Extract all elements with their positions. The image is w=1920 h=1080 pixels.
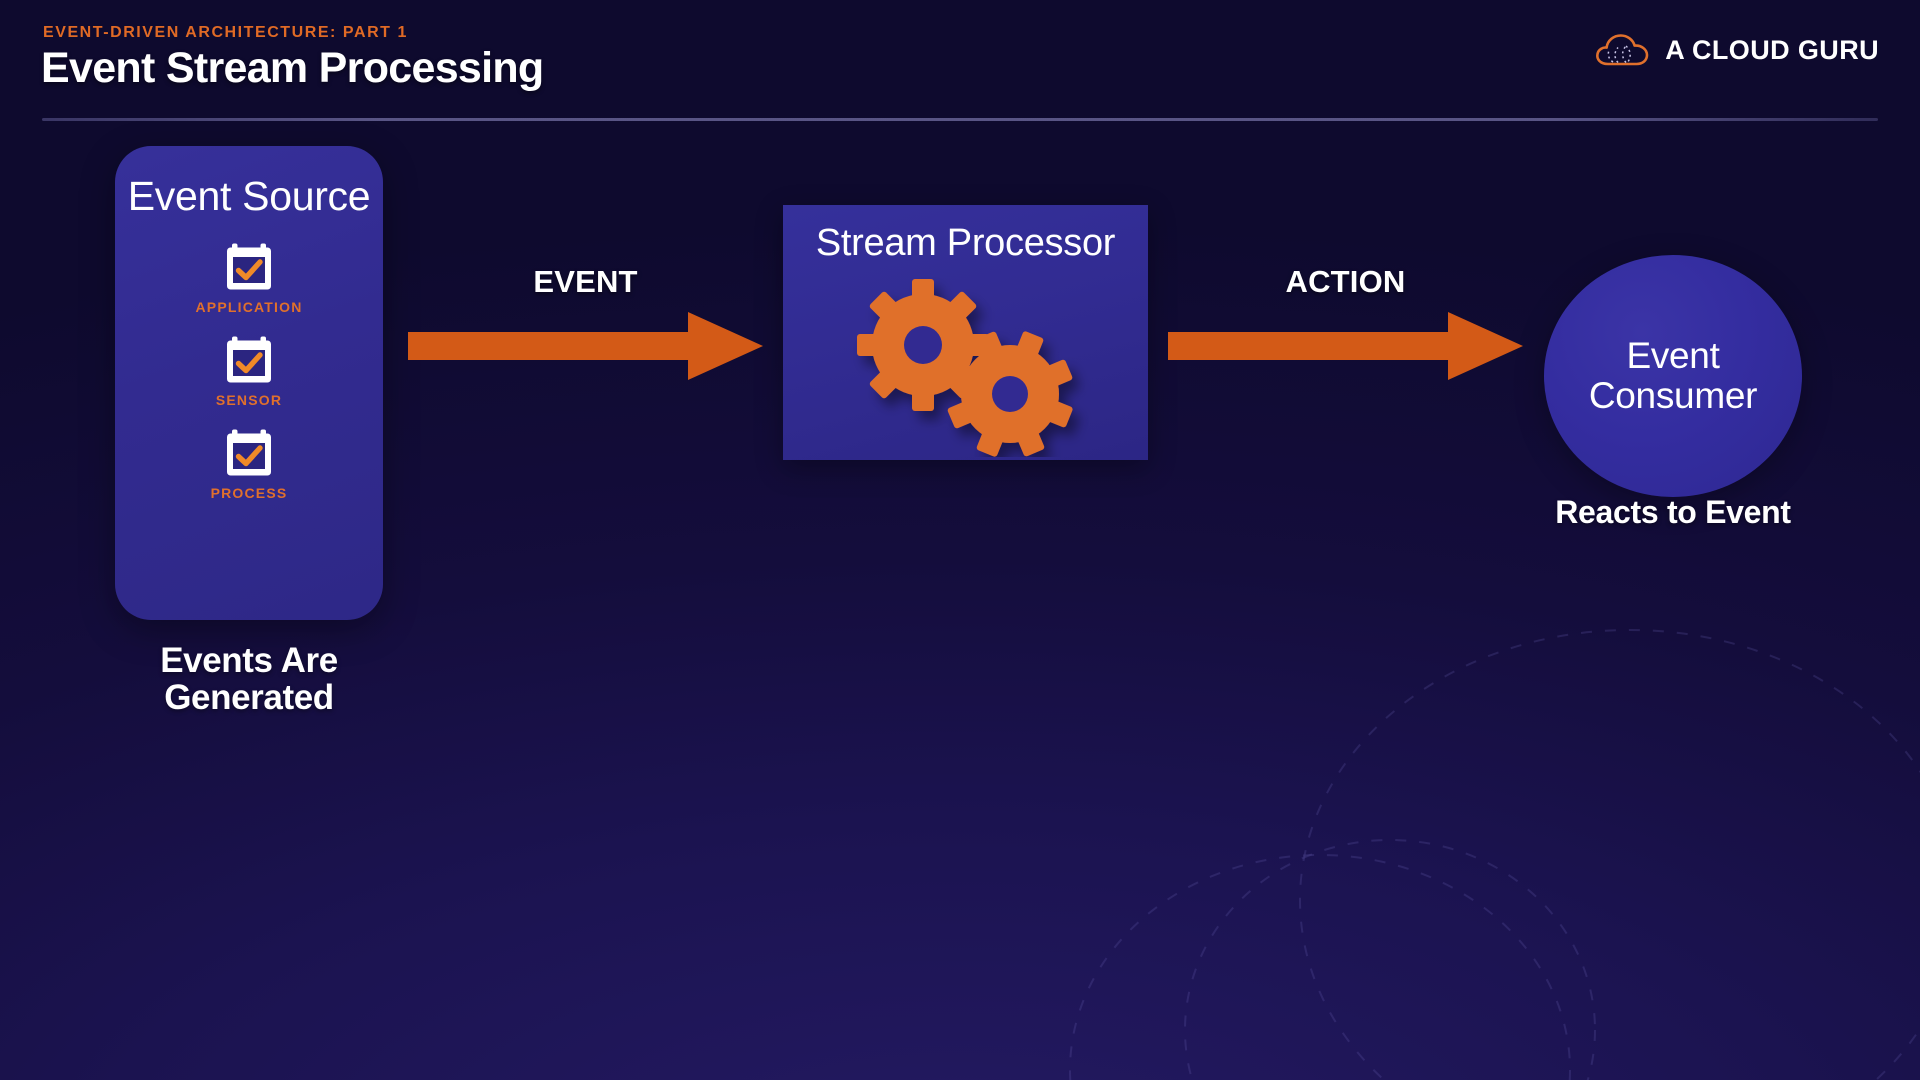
event-source-item-label: APPLICATION <box>195 299 302 315</box>
action-arrow-label: ACTION <box>1168 264 1523 300</box>
event-source-item-label: PROCESS <box>211 485 288 501</box>
event-source-title: Event Source <box>128 173 371 220</box>
diagram-stage: Event Source APPLICATION <box>0 0 1920 1080</box>
action-arrow-group: ACTION <box>1168 312 1523 380</box>
event-source-card: Event Source APPLICATION <box>115 146 383 620</box>
cloud-icon <box>1594 30 1651 70</box>
brand-logo: A CLOUD GURU <box>1594 30 1879 70</box>
page-title: Event Stream Processing <box>41 44 544 93</box>
calendar-check-icon <box>225 428 273 478</box>
event-source-item-list: APPLICATION SENSOR <box>195 242 302 501</box>
calendar-check-icon <box>225 242 273 292</box>
event-consumer-caption: Reacts to Event <box>1544 495 1802 531</box>
event-arrow-label: EVENT <box>408 264 763 300</box>
header-divider <box>42 118 1878 121</box>
event-source-item-application: APPLICATION <box>195 242 302 315</box>
stream-processor-box: Stream Processor <box>783 205 1148 460</box>
slide-header: EVENT-DRIVEN ARCHITECTURE: PART 1 Event … <box>0 0 1920 120</box>
stream-processor-title: Stream Processor <box>783 222 1148 265</box>
event-source-item-sensor: SENSOR <box>216 335 282 408</box>
slide-eyebrow: EVENT-DRIVEN ARCHITECTURE: PART 1 <box>43 24 408 42</box>
event-source-item-label: SENSOR <box>216 392 282 408</box>
event-consumer-title: Event Consumer <box>1544 336 1802 416</box>
event-arrow-group: EVENT <box>408 312 763 380</box>
arrow-right-icon <box>1168 312 1523 380</box>
arrow-right-icon <box>408 312 763 380</box>
brand-name: A CLOUD GURU <box>1665 35 1879 66</box>
event-consumer-circle: Event Consumer <box>1544 255 1802 497</box>
event-source-caption: Events Are Generated <box>115 642 383 717</box>
calendar-check-icon <box>225 335 273 385</box>
gears-icon <box>845 277 1095 457</box>
event-source-item-process: PROCESS <box>211 428 288 501</box>
